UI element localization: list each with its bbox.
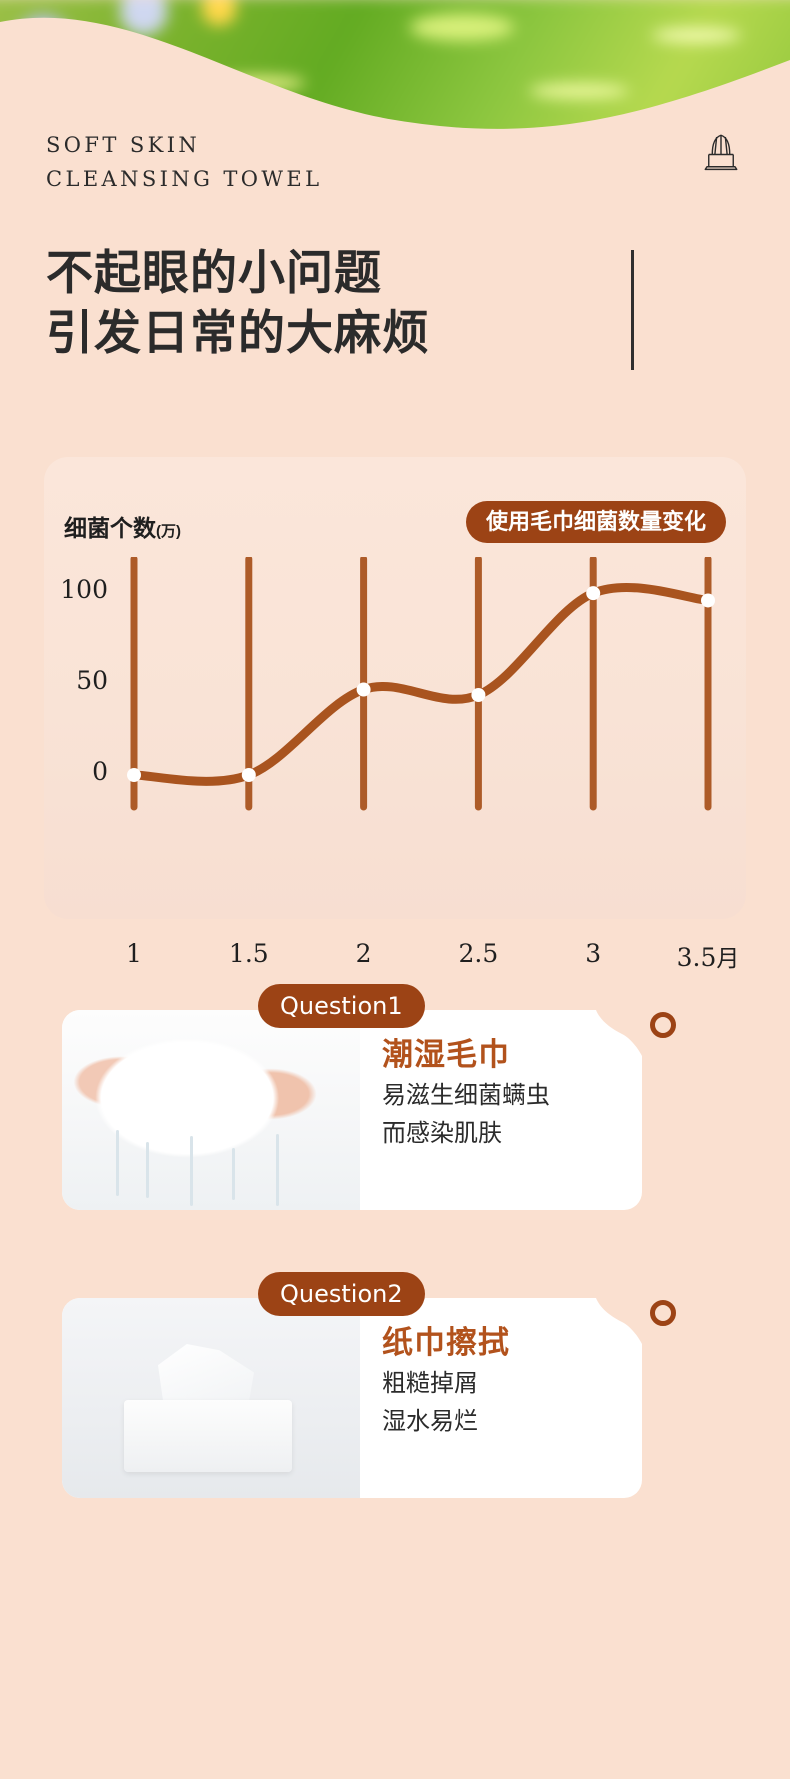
question-card-2-ring-icon [650, 1300, 676, 1326]
brand-line-2: CLEANSING TOWEL [46, 162, 322, 196]
headline-line-1: 不起眼的小问题 [46, 243, 430, 303]
hero-wave-shape [0, 0, 790, 250]
chart-y-axis-label: 细菌个数(万) [64, 509, 181, 543]
water-drip [116, 1130, 119, 1196]
card-2-corner-notch [578, 1298, 642, 1344]
chart-y-tick: 100 [44, 575, 108, 604]
chart-y-tick: 50 [44, 666, 108, 695]
chart-x-tick: 3 [585, 939, 601, 968]
question-card-1-ring-icon [650, 1012, 676, 1038]
chart-y-axis-unit: (万) [156, 523, 181, 540]
tissue-box-photo [62, 1298, 360, 1498]
wet-towel-image [62, 1010, 360, 1210]
chart-x-tick: 3.5月 [677, 939, 740, 973]
question-card-1-desc-line-2: 而感染肌肤 [382, 1118, 642, 1150]
tissue-box-body [124, 1400, 292, 1472]
chart-title-badge: 使用毛巾细菌数量变化 [466, 501, 726, 543]
card-1-corner-notch [578, 1010, 642, 1056]
question-card-2-body: 纸巾擦拭 粗糙掉屑 湿水易烂 [62, 1298, 642, 1498]
brand-wordmark: SOFT SKIN CLEANSING TOWEL [46, 128, 322, 196]
bacteria-line-chart [44, 557, 746, 847]
question-card-2-desc-line-1: 粗糙掉屑 [382, 1368, 642, 1400]
water-drip [276, 1134, 279, 1206]
chart-x-tick: 2.5 [459, 939, 499, 968]
hero-banner [0, 0, 790, 250]
chart-x-tick: 1.5 [229, 939, 269, 968]
question-card-1-desc-line-1: 易滋生细菌螨虫 [382, 1080, 642, 1112]
question-card-2-desc-line-2: 湿水易烂 [382, 1406, 642, 1438]
water-drip [190, 1136, 193, 1206]
question-card-2[interactable]: 纸巾擦拭 粗糙掉屑 湿水易烂 Question2 [62, 1298, 642, 1498]
question-card-1-badge: Question1 [258, 984, 425, 1028]
question-card-2-badge: Question2 [258, 1272, 425, 1316]
chart-x-tick: 1 [126, 939, 142, 968]
chart-x-tick: 2 [356, 939, 372, 968]
chart-y-axis-label-text: 细菌个数 [64, 515, 156, 541]
product-detail-page: SOFT SKIN CLEANSING TOWEL 不起眼的小问题 引发日常的大… [0, 0, 790, 1779]
water-drip [146, 1142, 149, 1198]
chart-y-tick: 0 [44, 757, 108, 786]
brand-line-1: SOFT SKIN [46, 128, 322, 162]
wet-towel-photo [62, 1010, 360, 1210]
headline-line-2: 引发日常的大麻烦 [46, 303, 430, 363]
question-card-1[interactable]: 潮湿毛巾 易滋生细菌螨虫 而感染肌肤 Question1 [62, 1010, 642, 1210]
headline-divider [631, 250, 634, 370]
chart-plot-area: 050100 11.522.533.5月 [44, 557, 746, 847]
tissue-box-icon [700, 130, 742, 172]
page-title: 不起眼的小问题 引发日常的大麻烦 [46, 243, 430, 363]
bacteria-chart-card: 细菌个数(万) 使用毛巾细菌数量变化 050100 11.522.533.5月 [44, 457, 746, 919]
question-card-1-body: 潮湿毛巾 易滋生细菌螨虫 而感染肌肤 [62, 1010, 642, 1210]
water-drip [232, 1148, 235, 1200]
